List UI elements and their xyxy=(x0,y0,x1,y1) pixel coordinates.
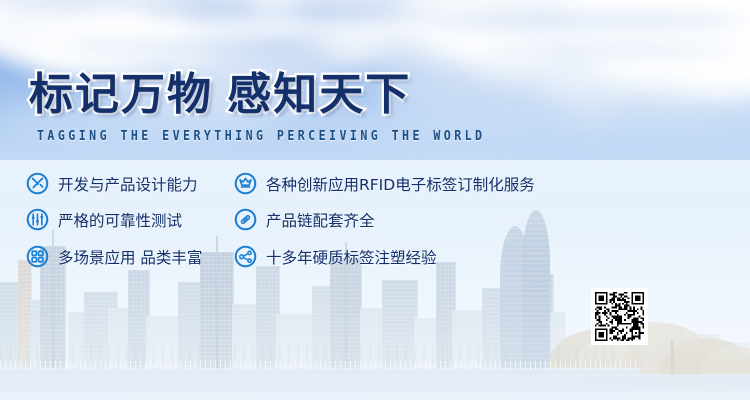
qr-code[interactable] xyxy=(593,290,646,343)
sub-headline: TAGGING THE EVERYTHING PERCEIVING THE WO… xyxy=(37,128,485,144)
feature-item-experience: 十多年硬质标签注塑经验 xyxy=(234,245,437,268)
promotional-banner: 标记万物 感知天下 TAGGING THE EVERYTHING PERCEIV… xyxy=(0,0,750,400)
feature-item-reliability: 严格的可靠性测试 xyxy=(26,208,182,231)
headline: 标记万物 感知天下 xyxy=(29,73,411,117)
feature-label: 开发与产品设计能力 xyxy=(58,173,198,195)
feature-item-development: 开发与产品设计能力 xyxy=(26,172,198,195)
sliders-icon xyxy=(26,208,49,231)
fade-overlay xyxy=(0,160,750,400)
feature-label: 严格的可靠性测试 xyxy=(58,209,182,231)
feature-item-scenarios: 多场景应用 品类丰富 xyxy=(26,245,202,268)
feature-label: 产品链配套齐全 xyxy=(266,209,375,231)
crown-icon xyxy=(234,172,257,195)
feature-item-rfid-service: 各种创新应用RFID电子标签订制化服务 xyxy=(234,172,535,195)
feature-item-supply-chain: 产品链配套齐全 xyxy=(234,208,375,231)
qr-code-image xyxy=(593,290,646,343)
grid-icon xyxy=(26,245,49,268)
tools-icon xyxy=(26,172,49,195)
feature-label: 各种创新应用RFID电子标签订制化服务 xyxy=(266,173,535,195)
feature-label: 十多年硬质标签注塑经验 xyxy=(266,246,437,268)
link-icon xyxy=(234,208,257,231)
share-icon xyxy=(234,245,257,268)
feature-label: 多场景应用 品类丰富 xyxy=(58,246,202,268)
